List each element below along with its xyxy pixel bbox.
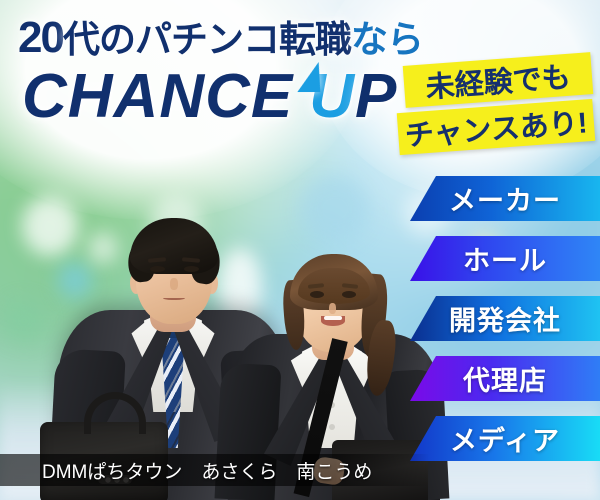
kicker-text: 20代のパチンコ転職なら (18, 16, 423, 60)
kicker-tail: なら (351, 19, 423, 60)
badge-no-experience: 未経験でも (403, 52, 594, 108)
category-button-agency[interactable]: 代理店 (410, 356, 600, 401)
people-photo (0, 140, 440, 500)
category-button-hall[interactable]: ホール (410, 236, 600, 281)
logo-chance-up: CHANCEUP (22, 66, 397, 128)
badge-chance-available: チャンスあり! (397, 99, 596, 155)
category-button-developer[interactable]: 開発会社 (410, 296, 600, 341)
woman-teeth (324, 316, 342, 320)
logo-letter-p: P (355, 62, 397, 131)
advertisement-banner[interactable]: 20代のパチンコ転職なら CHANCEUP 未経験でも チャンスあり! メーカー… (0, 0, 600, 500)
woman-eye-left (310, 291, 324, 298)
woman-eye-right (342, 291, 356, 298)
headline-group: 20代のパチンコ転職なら CHANCEUP 未経験でも チャンスあり! (0, 0, 600, 170)
category-button-list: メーカー ホール 開発会社 代理店 メディア (410, 176, 600, 461)
man-nose (170, 278, 178, 290)
kicker-number: 20 (18, 13, 63, 62)
kicker-middle: 代のパチンコ転職 (63, 19, 351, 60)
category-button-maker[interactable]: メーカー (410, 176, 600, 221)
caption-text: DMMぱちタウン あさくら 南こうめ (0, 457, 372, 484)
category-button-media[interactable]: メディア (410, 416, 600, 461)
man-hair (130, 218, 218, 274)
logo-word-chance: CHANCE (22, 62, 293, 131)
man-mouth (163, 295, 185, 300)
man-eye-right (184, 266, 199, 272)
woman-blouse-button (329, 424, 335, 430)
caption-bar: DMMぱちタウン あさくら 南こうめ (0, 454, 430, 486)
woman-nose (329, 303, 336, 314)
man-eye-left (150, 266, 165, 272)
